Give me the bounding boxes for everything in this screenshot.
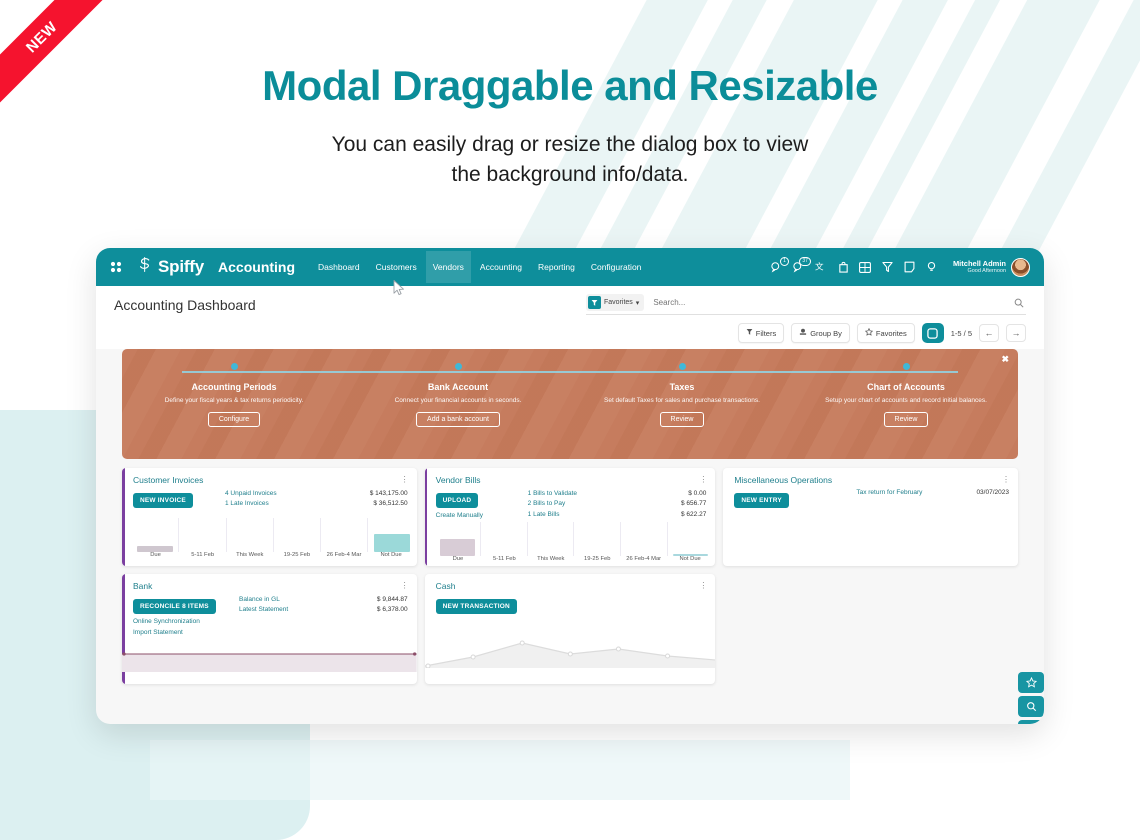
- step-description: Setup your chart of accounts and record …: [794, 396, 1018, 405]
- card-title: Vendor Bills: [436, 475, 481, 485]
- stat-row: 4 Unpaid Invoices $ 143,175.00: [225, 489, 408, 499]
- avatar[interactable]: [1011, 258, 1030, 277]
- axis-tick: Due: [435, 556, 481, 562]
- menu-item-reporting[interactable]: Reporting: [531, 251, 582, 283]
- card-title: Bank: [133, 581, 152, 591]
- app-window: Spiffy Accounting Dashboard Customers Ve…: [96, 248, 1044, 724]
- invoice-stats: 4 Unpaid Invoices $ 143,175.00 1 Late In…: [225, 489, 408, 510]
- card-menu-icon[interactable]: ⋮: [401, 583, 408, 589]
- axis-tick: Due: [132, 552, 179, 558]
- card-title: Customer Invoices: [133, 475, 203, 485]
- menu-item-configuration[interactable]: Configuration: [584, 251, 649, 283]
- axis-tick: This Week: [226, 552, 273, 558]
- favorites-button[interactable]: Favorites: [857, 323, 915, 343]
- stat-label[interactable]: 1 Late Invoices: [225, 499, 269, 509]
- hero-subtitle-line2: the background info/data.: [0, 160, 1140, 190]
- axis-tick: Not Due: [368, 552, 415, 558]
- search-icon[interactable]: [1014, 298, 1026, 308]
- axis-tick: 26 Feb-4 Mar: [320, 552, 367, 558]
- hero-title: Modal Draggable and Resizable: [0, 62, 1140, 110]
- bulb-icon[interactable]: [925, 261, 938, 274]
- user-name: Mitchell Admin: [953, 260, 1006, 269]
- card-customer-invoices: Customer Invoices ⋮ NEW INVOICE 4 Unpaid…: [122, 468, 417, 566]
- onboarding-step-bank-account: Bank Account Connect your financial acco…: [346, 363, 570, 427]
- card-menu-icon[interactable]: ⋮: [401, 477, 408, 483]
- background-shape-bottom: [150, 740, 850, 800]
- menu-item-customers[interactable]: Customers: [369, 251, 424, 283]
- topbar-actions: 1 37 文: [771, 258, 1034, 277]
- grid-view-icon[interactable]: [859, 261, 872, 274]
- stat-row: Latest Statement $ 6,378.00: [239, 605, 408, 615]
- card-title: Miscellaneous Operations: [734, 475, 832, 485]
- onboarding-step-taxes: Taxes Set default Taxes for sales and pu…: [570, 363, 794, 427]
- stat-row: 2 Bills to Pay $ 656.77: [528, 499, 707, 509]
- axis-tick: This Week: [528, 556, 574, 562]
- step-dot-icon: [455, 363, 462, 370]
- activities-badge: 37: [799, 257, 811, 266]
- step-title: Chart of Accounts: [794, 382, 1018, 392]
- new-invoice-button[interactable]: NEW INVOICE: [133, 493, 193, 508]
- app-topbar: Spiffy Accounting Dashboard Customers Ve…: [96, 248, 1044, 286]
- step-description: Set default Taxes for sales and purchase…: [570, 396, 794, 405]
- stat-value: $ 143,175.00: [370, 489, 408, 499]
- star-icon: [865, 328, 873, 338]
- axis-tick: Not Due: [667, 556, 713, 562]
- svg-text:文: 文: [815, 261, 824, 272]
- search-facet-favorites[interactable]: Favorites ▾: [586, 294, 644, 311]
- card-menu-icon[interactable]: ⋮: [1002, 477, 1009, 483]
- stat-value: $ 622.27: [681, 510, 706, 520]
- group-by-label: Group By: [810, 329, 842, 338]
- stat-label[interactable]: 1 Bills to Validate: [528, 489, 577, 499]
- group-by-button[interactable]: Group By: [791, 323, 850, 343]
- onboarding-step-chart-of-accounts: Chart of Accounts Setup your chart of ac…: [794, 363, 1018, 427]
- filters-button[interactable]: Filters: [738, 323, 784, 343]
- page-title: Modal Draggable and Resizable: [0, 62, 1140, 110]
- online-synchronization-link[interactable]: Online Synchronization: [133, 618, 239, 625]
- card-bank: Bank ⋮ RECONCILE 8 ITEMS Online Synchron…: [122, 574, 417, 684]
- stat-row: 1 Bills to Validate $ 0.00: [528, 489, 707, 499]
- table-row: Tax return for February 03/07/2023: [826, 489, 1009, 496]
- next-page-button[interactable]: →: [1006, 324, 1026, 342]
- chevron-down-icon: ▾: [636, 299, 640, 307]
- reconcile-button[interactable]: RECONCILE 8 ITEMS: [133, 599, 216, 614]
- create-manually-link[interactable]: Create Manually: [436, 512, 528, 519]
- onboarding-banner: ✖ Accounting Periods Define your fiscal …: [122, 349, 1018, 459]
- step-dot-icon: [903, 363, 910, 370]
- note-icon[interactable]: [903, 261, 916, 274]
- bills-aging-bar-chart: [425, 522, 716, 556]
- shopping-bag-icon[interactable]: [837, 261, 850, 274]
- stat-label[interactable]: Balance in GL: [239, 595, 280, 605]
- step-dot-icon: [231, 363, 238, 370]
- card-menu-icon[interactable]: ⋮: [699, 583, 706, 589]
- step-action-button[interactable]: Configure: [208, 412, 260, 427]
- step-action-button[interactable]: Review: [660, 412, 705, 427]
- group-icon: [799, 328, 807, 338]
- brand-logo[interactable]: Spiffy: [136, 256, 204, 278]
- prev-page-button[interactable]: ←: [979, 324, 999, 342]
- axis-tick: 19-25 Feb: [273, 552, 320, 558]
- card-cash: Cash ⋮ NEW TRANSACTION: [425, 574, 716, 684]
- bank-stats: Balance in GL $ 9,844.87 Latest Statemen…: [239, 595, 408, 636]
- step-dot-icon: [679, 363, 686, 370]
- axis-tick: 5-11 Feb: [481, 556, 527, 562]
- kanban-view-icon[interactable]: [922, 323, 944, 343]
- new-ribbon: NEW: [0, 0, 120, 120]
- entry-name[interactable]: Tax return for February: [856, 489, 922, 496]
- search-input[interactable]: [653, 298, 1014, 307]
- entry-date: 03/07/2023: [976, 489, 1009, 496]
- translate-icon[interactable]: 文: [815, 261, 828, 274]
- funnel-icon[interactable]: [881, 261, 894, 274]
- card-vendor-bills: Vendor Bills ⋮ UPLOAD Create Manually 1 …: [425, 468, 716, 566]
- stat-row: 1 Late Bills $ 622.27: [528, 510, 707, 520]
- upload-button[interactable]: UPLOAD: [436, 493, 479, 508]
- step-action-button[interactable]: Review: [884, 412, 929, 427]
- step-title: Taxes: [570, 382, 794, 392]
- search-icon[interactable]: [1018, 696, 1044, 717]
- messages-badge: 1: [780, 257, 789, 266]
- card-menu-icon[interactable]: ⋮: [699, 477, 706, 483]
- stat-label[interactable]: 1 Late Bills: [528, 510, 560, 520]
- filters-label: Filters: [756, 329, 776, 338]
- menu-item-accounting[interactable]: Accounting: [473, 251, 529, 283]
- stat-label[interactable]: Latest Statement: [239, 605, 288, 615]
- onboarding-steps: Accounting Periods Define your fiscal ye…: [122, 349, 1018, 427]
- star-icon[interactable]: [1018, 672, 1044, 693]
- stat-row: 1 Late Invoices $ 36,512.50: [225, 499, 408, 509]
- stat-value: $ 36,512.50: [373, 499, 407, 509]
- stat-value: $ 656.77: [681, 499, 706, 509]
- new-transaction-button[interactable]: NEW TRANSACTION: [436, 599, 517, 614]
- stat-value: $ 9,844.87: [377, 595, 408, 605]
- import-statement-link[interactable]: Import Statement: [133, 629, 239, 636]
- pager-count: 1-5 / 5: [951, 329, 972, 338]
- user-menu[interactable]: Mitchell Admin Good Afternoon: [953, 258, 1030, 277]
- funnel-icon: [588, 296, 601, 309]
- new-entry-button[interactable]: NEW ENTRY: [734, 493, 789, 508]
- bill-stats: 1 Bills to Validate $ 0.00 2 Bills to Pa…: [528, 489, 707, 520]
- dashboard-cards: Customer Invoices ⋮ NEW INVOICE 4 Unpaid…: [96, 459, 1044, 684]
- invoices-aging-bar-chart: [122, 518, 417, 552]
- funnel-icon: [746, 328, 753, 338]
- stat-value: $ 0.00: [688, 489, 706, 499]
- brand-name: Spiffy: [158, 257, 204, 277]
- step-title: Accounting Periods: [122, 382, 346, 392]
- invoices-aging-labels: Due 5-11 Feb This Week 19-25 Feb 26 Feb-…: [122, 552, 417, 563]
- search-bar: Favorites ▾: [586, 294, 1026, 315]
- step-title: Bank Account: [346, 382, 570, 392]
- step-action-button[interactable]: Add a bank account: [416, 412, 500, 427]
- axis-tick: 19-25 Feb: [574, 556, 620, 562]
- hero-subtitle: You can easily drag or resize the dialog…: [0, 130, 1140, 190]
- bills-aging-labels: Due 5-11 Feb This Week 19-25 Feb 26 Feb-…: [425, 556, 716, 566]
- app-name: Accounting: [218, 259, 295, 275]
- menu-item-dashboard[interactable]: Dashboard: [311, 251, 367, 283]
- apps-grid-icon[interactable]: [110, 261, 128, 273]
- axis-tick: 5-11 Feb: [179, 552, 226, 558]
- card-miscellaneous-operations: Miscellaneous Operations ⋮ NEW ENTRY Tax…: [723, 468, 1018, 566]
- cash-balance-chart: [425, 626, 716, 668]
- expand-icon[interactable]: [1018, 720, 1044, 724]
- breadcrumb: Accounting Dashboard: [114, 297, 256, 313]
- control-bar: Accounting Dashboard Favorites ▾: [96, 286, 1044, 349]
- card-title: Cash: [436, 581, 456, 591]
- stat-value: $ 6,378.00: [377, 605, 408, 615]
- hero-subtitle-line1: You can easily drag or resize the dialog…: [0, 130, 1140, 160]
- axis-tick: 26 Feb-4 Mar: [620, 556, 666, 562]
- side-action-buttons: [1018, 672, 1044, 724]
- misc-entries: Tax return for February 03/07/2023: [826, 489, 1009, 508]
- user-greeting: Good Afternoon: [953, 268, 1006, 274]
- onboarding-step-accounting-periods: Accounting Periods Define your fiscal ye…: [122, 363, 346, 427]
- step-description: Define your fiscal years & tax returns p…: [122, 396, 346, 405]
- stat-row: Balance in GL $ 9,844.87: [239, 595, 408, 605]
- messages-icon[interactable]: 1: [771, 261, 784, 274]
- stat-label[interactable]: 4 Unpaid Invoices: [225, 489, 277, 499]
- new-ribbon-label: NEW: [0, 0, 115, 111]
- spiffy-s-logo-icon: [136, 256, 153, 278]
- main-menu: Dashboard Customers Vendors Accounting R…: [311, 251, 648, 283]
- activities-icon[interactable]: 37: [793, 261, 806, 274]
- bank-balance-chart: [122, 650, 417, 672]
- stat-label[interactable]: 2 Bills to Pay: [528, 499, 566, 509]
- step-description: Connect your financial accounts in secon…: [346, 396, 570, 405]
- menu-item-vendors[interactable]: Vendors: [426, 251, 471, 283]
- search-facet-label: Favorites: [604, 299, 633, 306]
- favorites-label: Favorites: [876, 329, 907, 338]
